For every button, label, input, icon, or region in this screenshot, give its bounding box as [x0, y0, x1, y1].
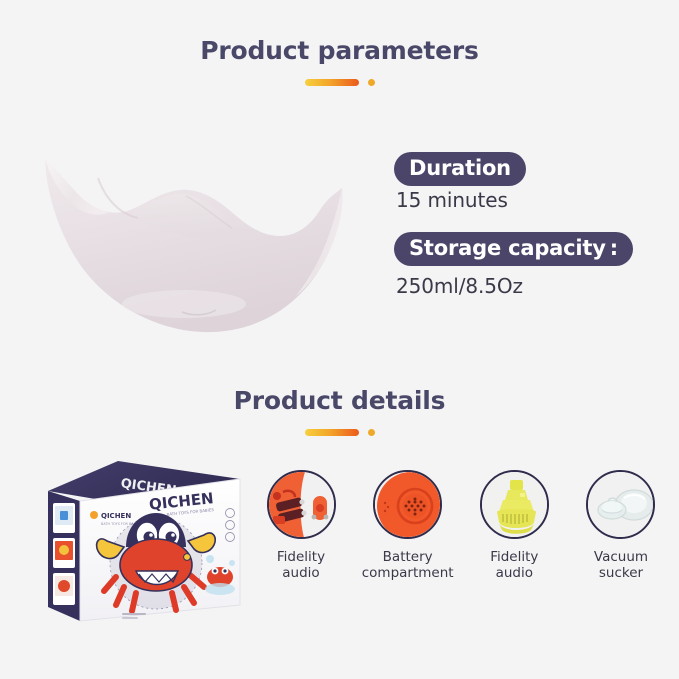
product-photo [34, 118, 354, 353]
parameter-value-storage-capacity: 250ml/8.5Oz [396, 274, 523, 298]
svg-text:QICHEN: QICHEN [101, 512, 131, 520]
gradient-dot-icon [368, 429, 375, 436]
detail-item-fidelity-audio-2: Fidelity audio [466, 470, 562, 581]
detail-item-fidelity-audio-1: Fidelity audio [253, 470, 349, 581]
gradient-bar-icon [305, 429, 359, 436]
gradient-bar-icon [305, 79, 359, 86]
package-box-photo: QICHEN QICHEN BATH TOYS FOR BABIES QICHE… [44, 455, 246, 630]
detail-item-battery-compartment: Battery compartment [360, 470, 456, 581]
parameters-divider [0, 79, 679, 86]
parameter-badge-storage-capacity: Storage capacity : [394, 232, 633, 266]
details-row: Fidelity audio [253, 470, 669, 581]
gradient-dot-icon [368, 79, 375, 86]
detail-item-vacuum-sucker: Vacuum sucker [573, 470, 669, 581]
parameter-badge-duration: Duration [394, 152, 526, 186]
detail-label: Vacuum sucker [594, 549, 648, 581]
parameters-section-heading: Product parameters [0, 36, 679, 65]
suction-cup-icon [586, 470, 655, 539]
parameter-value-duration: 15 minutes [396, 188, 508, 212]
battery-electronics-icon [267, 470, 336, 539]
detail-label: Battery compartment [362, 549, 454, 581]
detail-label: Fidelity audio [277, 549, 325, 581]
details-divider [0, 429, 679, 436]
bubble-nozzle-icon [480, 470, 549, 539]
details-section-heading: Product details [0, 386, 679, 415]
detail-label: Fidelity audio [490, 549, 538, 581]
speaker-grille-icon [373, 470, 442, 539]
